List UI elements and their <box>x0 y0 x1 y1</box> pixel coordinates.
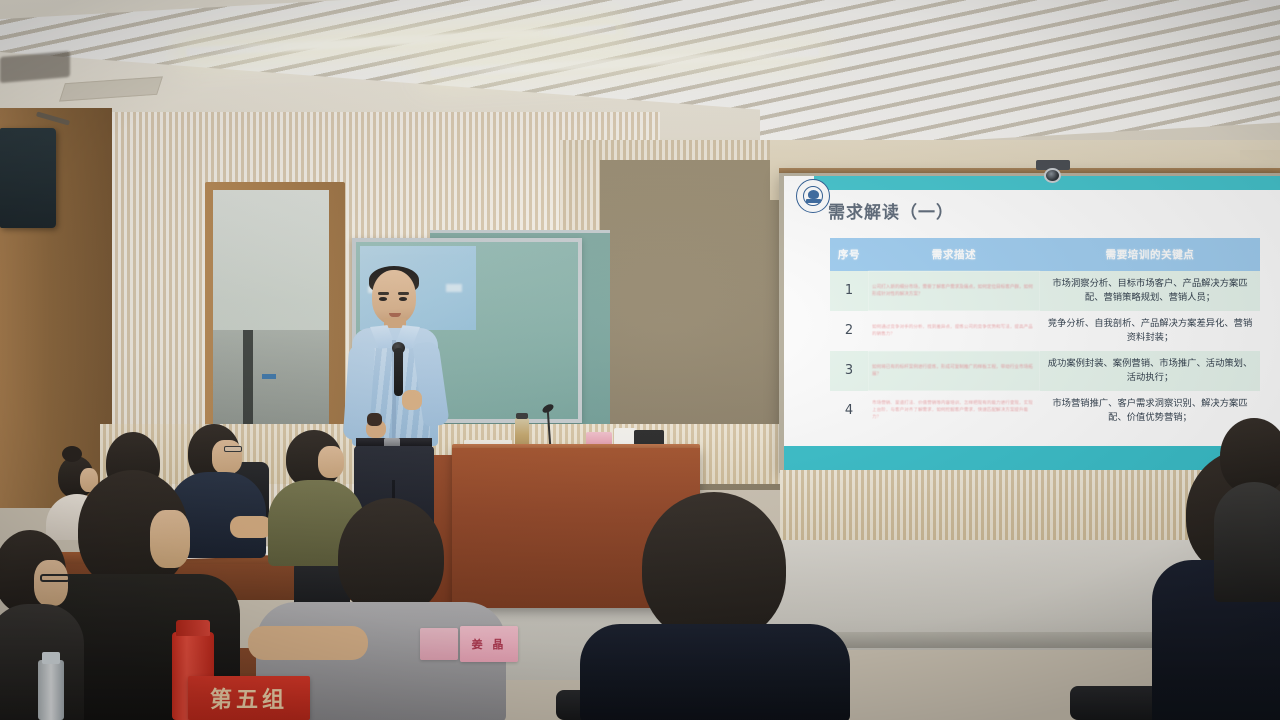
presenter-brow-right <box>398 292 409 295</box>
col-header-requirement: 需求描述 <box>868 238 1040 271</box>
table-header-row: 序号 需求描述 需要培训的关键点 <box>830 238 1260 271</box>
presenter-eye-left <box>379 297 387 301</box>
cell-requirement: 市场营销、渠道打法、价值营销等内容培训，怎样把现有的能力进行变现，实现上台阶，与… <box>868 391 1040 431</box>
handheld-microphone <box>394 348 403 396</box>
table-row: 3 如何将已有的标杆案例进行提炼，形成可复制推广的样板工程，带动行业市场拓展？ … <box>830 351 1260 391</box>
table-row: 1 公司打入新的细分市场，需要了解客户需求及痛点，如何定位目标客户群，如何形成针… <box>830 271 1260 311</box>
attendee-face <box>34 560 68 606</box>
camera-lens-icon <box>1044 168 1061 183</box>
water-bottle-cap <box>42 652 60 664</box>
attendee-right-mid <box>1214 418 1280 598</box>
attendee-torso <box>580 624 850 720</box>
requirements-table: 序号 需求描述 需要培训的关键点 1 公司打入新的细分市场，需要了解客户需求及痛… <box>830 238 1260 431</box>
eyeglasses-icon <box>224 446 242 452</box>
attendee-forearm <box>248 626 368 660</box>
cell-requirement: 如何将已有的标杆案例进行提炼，形成可复制推广的样板工程，带动行业市场拓展？ <box>868 351 1040 391</box>
attendee-ear-area <box>150 510 190 568</box>
name-card-secondary <box>420 628 458 660</box>
attendee-front-center <box>580 492 850 720</box>
cell-keypoints: 成功案例封装、案例营销、市场推广、活动策划、活动执行； <box>1040 351 1260 391</box>
cell-no: 1 <box>830 271 868 311</box>
eyeglasses-icon <box>40 574 70 582</box>
slide-title: 需求解读（一） <box>828 198 954 223</box>
presenter-hand-right <box>402 390 422 410</box>
table-row: 2 如何通过竞争对手的分析，找到差异点，提炼公司的竞争优势和写法，提高产品的销售… <box>830 311 1260 351</box>
cell-keypoints: 市场洞察分析、目标市场客户、产品解决方案匹配、营销策略规划、营销人员； <box>1040 271 1260 311</box>
seminar-room-scene: 需求解读（一） 序号 需求描述 需要培训的关键点 1 公司打入新的细分市场，需要… <box>0 0 1280 720</box>
attendee-face <box>318 446 344 478</box>
wall-speaker <box>0 128 56 228</box>
company-crest-icon <box>796 179 830 213</box>
attendee-head <box>338 498 444 616</box>
col-header-keypoints: 需要培训的关键点 <box>1040 238 1260 271</box>
cell-no: 3 <box>830 351 868 391</box>
col-header-no: 序号 <box>830 238 868 271</box>
presentation-slide: 需求解读（一） 序号 需求描述 需要培训的关键点 1 公司打入新的细分市场，需要… <box>784 176 1280 470</box>
presenter-eye-right <box>399 297 407 301</box>
attendee-head <box>642 492 786 642</box>
table-row: 4 市场营销、渠道打法、价值营销等内容培训，怎样把现有的能力进行变现，实现上台阶… <box>830 391 1260 431</box>
cell-requirement: 公司打入新的细分市场，需要了解客户需求及痛点，如何定位目标客户群，如何形成针对性… <box>868 271 1040 311</box>
table-number-sign: 第五组 <box>188 676 310 720</box>
cell-keypoints: 竞争分析、自我剖析、产品解决方案差异化、营销资料封装； <box>1040 311 1260 351</box>
cell-no: 2 <box>830 311 868 351</box>
name-card: 姜 晶 <box>460 626 518 662</box>
water-bottle <box>38 660 64 720</box>
cell-no: 4 <box>830 391 868 431</box>
door-indicator-light <box>262 374 276 379</box>
attendee-hair-bun <box>62 446 82 462</box>
presentation-clicker[interactable] <box>367 413 382 426</box>
cell-requirement: 如何通过竞争对手的分析，找到差异点，提炼公司的竞争优势和写法，提高产品的销售力？ <box>868 311 1040 351</box>
attendee-torso <box>1214 482 1280 602</box>
presenter-brow-left <box>378 292 389 295</box>
red-thermos-cap <box>176 620 210 636</box>
